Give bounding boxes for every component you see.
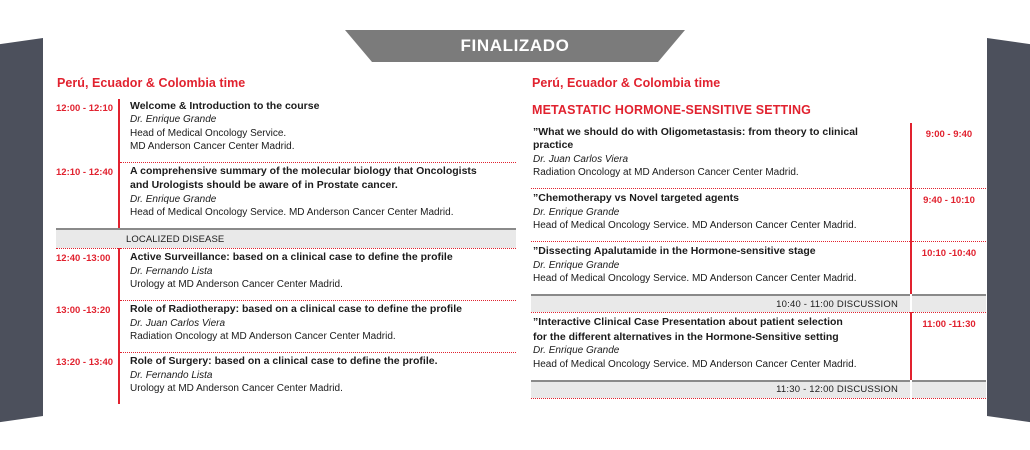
session-title: ”What we should do with Oligometastasis:… bbox=[533, 126, 900, 153]
session-body: ”What we should do with Oligometastasis:… bbox=[531, 123, 910, 188]
discussion-label-box: 11:30 - 12:00 DISCUSSION bbox=[531, 380, 910, 398]
session-title: ”Interactive Clinical Case Presentation … bbox=[533, 316, 900, 329]
discussion-gutter bbox=[912, 294, 986, 312]
session-row: 12:40 -13:00 Active Surveillance: based … bbox=[56, 249, 516, 300]
session-title: A comprehensive summary of the molecular… bbox=[130, 165, 516, 178]
session-affiliation: Urology at MD Anderson Cancer Center Mad… bbox=[130, 382, 516, 395]
session-affiliation: Urology at MD Anderson Cancer Center Mad… bbox=[130, 278, 516, 291]
session-title: Role of Radiotherapy: based on a clinica… bbox=[130, 303, 516, 316]
section-bar-label: LOCALIZED DISEASE bbox=[126, 234, 224, 245]
session-title: ”Chemotherapy vs Novel targeted agents bbox=[533, 192, 900, 205]
status-banner-label: FINALIZADO bbox=[461, 36, 570, 56]
section-title-metastatic: METASTATIC HORMONE-SENSITIVE SETTING bbox=[532, 103, 986, 117]
session-body: Welcome & Introduction to the course Dr.… bbox=[120, 99, 516, 162]
session-body: Role of Radiotherapy: based on a clinica… bbox=[120, 301, 516, 352]
session-body: Role of Surgery: based on a clinical cas… bbox=[120, 353, 516, 404]
session-time: 9:00 - 9:40 bbox=[912, 123, 986, 188]
session-row: ”Dissecting Apalutamide in the Hormone-s… bbox=[531, 242, 986, 294]
session-time: 11:00 -11:30 bbox=[912, 313, 986, 379]
session-time: 12:10 - 12:40 bbox=[56, 163, 118, 228]
day-tab-right-month: July bbox=[995, 243, 1030, 257]
session-speaker: Dr. Enrique Grande bbox=[130, 194, 516, 207]
session-affiliation: MD Anderson Cancer Center Madrid. bbox=[130, 140, 516, 153]
session-body: A comprehensive summary of the molecular… bbox=[120, 163, 516, 228]
session-affiliation: Head of Medical Oncology Service. MD And… bbox=[533, 358, 900, 371]
day-tab-right-year: 2021 bbox=[995, 257, 1030, 271]
session-affiliation: Head of Medical Oncology Service. MD And… bbox=[533, 219, 900, 232]
discussion-gutter bbox=[912, 380, 986, 398]
session-row: ”Chemotherapy vs Novel targeted agents D… bbox=[531, 189, 986, 241]
discussion-bar: 11:30 - 12:00 DISCUSSION bbox=[531, 380, 986, 398]
session-speaker: Dr. Juan Carlos Viera bbox=[533, 154, 900, 167]
status-banner: FINALIZADO bbox=[345, 30, 685, 62]
session-row: ”What we should do with Oligometastasis:… bbox=[531, 123, 986, 188]
session-time: 9:40 - 10:10 bbox=[912, 189, 986, 241]
agenda-stage: 9 July 2021 10 July 2021 FINALIZADO Perú… bbox=[0, 0, 1030, 450]
session-title: Role of Surgery: based on a clinical cas… bbox=[130, 355, 516, 368]
session-affiliation: Head of Medical Oncology Service. bbox=[130, 127, 516, 140]
session-row: ”Interactive Clinical Case Presentation … bbox=[531, 313, 986, 379]
session-title: for the different alternatives in the Ho… bbox=[533, 331, 900, 344]
session-body: ”Chemotherapy vs Novel targeted agents D… bbox=[531, 189, 910, 241]
day-tab-left-year: 2021 bbox=[0, 257, 1, 271]
session-body: Active Surveillance: based on a clinical… bbox=[120, 249, 516, 300]
right-session-list: ”What we should do with Oligometastasis:… bbox=[531, 123, 986, 399]
day-tab-right: 10 July 2021 bbox=[987, 38, 1030, 433]
session-speaker: Dr. Enrique Grande bbox=[533, 345, 900, 358]
session-row: 12:10 - 12:40 A comprehensive summary of… bbox=[56, 163, 516, 228]
session-row: 13:00 -13:20 Role of Radiotherapy: based… bbox=[56, 301, 516, 352]
session-row: 13:20 - 13:40 Role of Surgery: based on … bbox=[56, 353, 516, 404]
session-title: Welcome & Introduction to the course bbox=[130, 100, 516, 113]
agenda-column-left: Perú, Ecuador & Colombia time 12:00 - 12… bbox=[56, 76, 516, 404]
day-tab-left-month: July bbox=[0, 243, 1, 257]
session-body: ”Interactive Clinical Case Presentation … bbox=[531, 313, 910, 379]
day-tab-left: 9 July 2021 bbox=[0, 38, 43, 433]
session-row: 12:00 - 12:10 Welcome & Introduction to … bbox=[56, 99, 516, 162]
divider-line bbox=[531, 398, 910, 399]
discussion-bar: 10:40 - 11:00 DISCUSSION bbox=[531, 294, 986, 312]
day-tab-right-content: 10 July 2021 bbox=[987, 224, 1030, 271]
session-affiliation: Radiation Oncology at MD Anderson Cancer… bbox=[533, 166, 900, 179]
session-affiliation: Head of Medical Oncology Service. MD And… bbox=[533, 272, 900, 285]
session-affiliation: Head of Medical Oncology Service. MD And… bbox=[130, 206, 516, 219]
discussion-label: 10:40 - 11:00 DISCUSSION bbox=[776, 299, 898, 310]
session-affiliation: Radiation Oncology at MD Anderson Cancer… bbox=[130, 330, 516, 343]
session-title: ”Dissecting Apalutamide in the Hormone-s… bbox=[533, 245, 900, 258]
session-speaker: Dr. Fernando Lista bbox=[130, 266, 516, 279]
session-speaker: Dr. Enrique Grande bbox=[130, 114, 516, 127]
session-speaker: Dr. Fernando Lista bbox=[130, 370, 516, 383]
session-speaker: Dr. Juan Carlos Viera bbox=[130, 318, 516, 331]
session-time: 12:40 -13:00 bbox=[56, 249, 118, 300]
session-time: 13:20 - 13:40 bbox=[56, 353, 118, 404]
timezone-label-left: Perú, Ecuador & Colombia time bbox=[57, 76, 516, 90]
day-tab-left-day: 9 bbox=[0, 224, 1, 243]
session-speaker: Dr. Enrique Grande bbox=[533, 207, 900, 220]
session-title: Active Surveillance: based on a clinical… bbox=[130, 251, 516, 264]
discussion-label-box: 10:40 - 11:00 DISCUSSION bbox=[531, 294, 910, 312]
day-tab-right-day: 10 bbox=[995, 224, 1030, 243]
session-title: and Urologists should be aware of in Pro… bbox=[130, 179, 516, 192]
timezone-label-right: Perú, Ecuador & Colombia time bbox=[532, 76, 986, 90]
agenda-column-right: Perú, Ecuador & Colombia time METASTATIC… bbox=[531, 76, 986, 399]
session-time: 13:00 -13:20 bbox=[56, 301, 118, 352]
session-body: ”Dissecting Apalutamide in the Hormone-s… bbox=[531, 242, 910, 294]
session-time: 10:10 -10:40 bbox=[912, 242, 986, 294]
session-divider bbox=[531, 398, 986, 399]
left-session-list: 12:00 - 12:10 Welcome & Introduction to … bbox=[56, 99, 516, 404]
discussion-label: 11:30 - 12:00 DISCUSSION bbox=[776, 384, 898, 395]
session-speaker: Dr. Enrique Grande bbox=[533, 260, 900, 273]
day-tab-left-content: 9 July 2021 bbox=[0, 224, 43, 271]
divider-line bbox=[912, 398, 986, 399]
section-bar-localized-disease: LOCALIZED DISEASE bbox=[56, 228, 516, 248]
session-time: 12:00 - 12:10 bbox=[56, 99, 118, 162]
